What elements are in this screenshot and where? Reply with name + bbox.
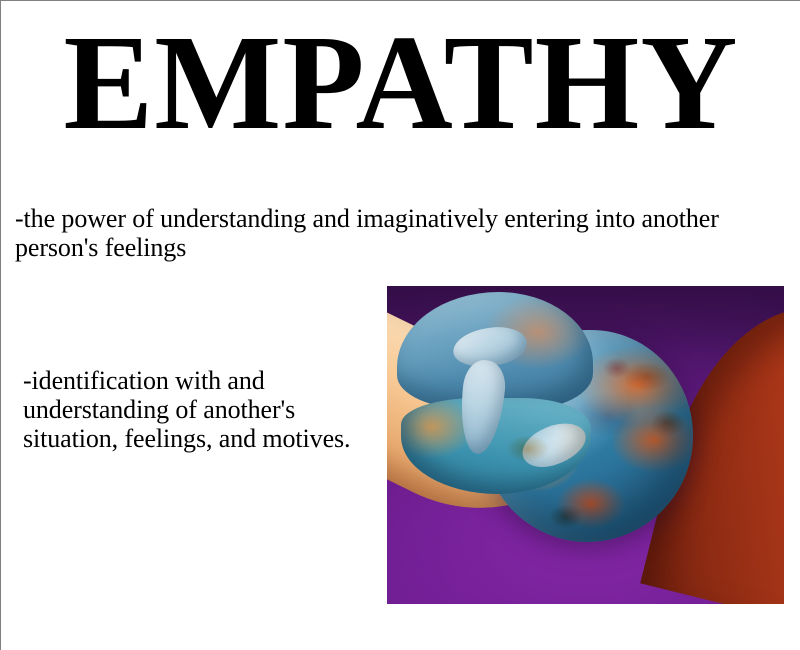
definition-text-2: -identification with and understanding o…	[23, 366, 368, 453]
empathy-slide: EMPATHY -the power of understanding and …	[0, 0, 800, 650]
page-title: EMPATHY	[5, 15, 797, 151]
definition-text-1: -the power of understanding and imaginat…	[15, 204, 739, 262]
clasped-hands-globe-image	[387, 286, 784, 604]
